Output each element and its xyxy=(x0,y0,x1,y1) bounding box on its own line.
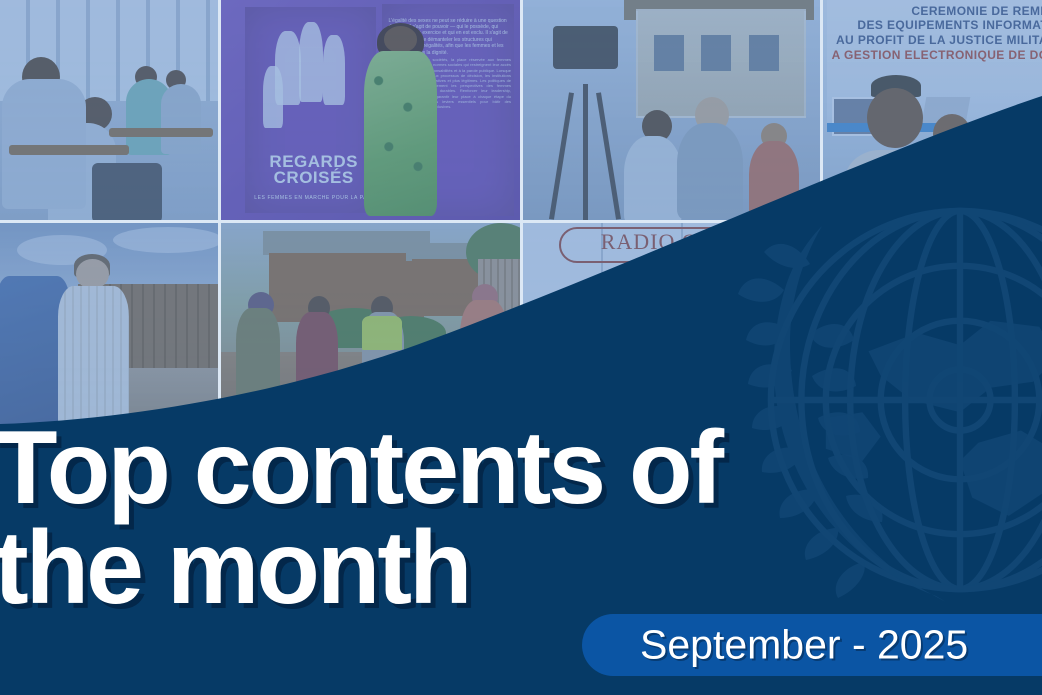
poster-title-line-1: Top contents of xyxy=(0,418,721,518)
poster-canvas: L'égalité des sexes ne peut se réduire à… xyxy=(0,0,1042,695)
date-label: September - 2025 xyxy=(640,622,968,669)
poster-title: Top contents of the month xyxy=(0,418,721,618)
poster-title-line-2: the month xyxy=(0,518,721,618)
date-banner: September - 2025 xyxy=(582,614,1042,676)
